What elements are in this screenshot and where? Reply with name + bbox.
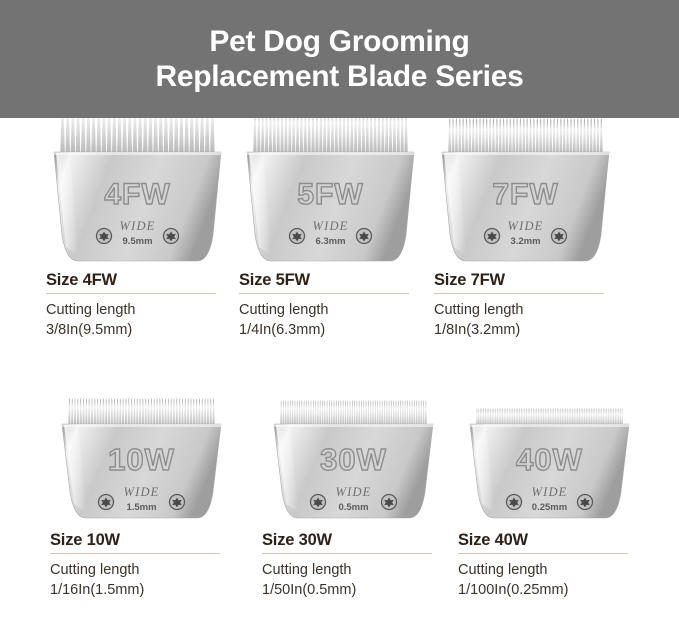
svg-text:WIDE: WIDE xyxy=(119,219,155,233)
svg-text:1.5mm: 1.5mm xyxy=(126,502,156,513)
blade-teeth xyxy=(448,118,603,156)
cutting-length-label: Cutting length xyxy=(239,300,424,320)
cutting-length-value: 1/8In(3.2mm) xyxy=(434,320,619,340)
cutting-length-value: 1/4In(6.3mm) xyxy=(239,320,424,340)
product-grid: 4FW WIDE 9.5mm Size 4FW Cutting length 3… xyxy=(0,118,679,637)
svg-text:WIDE: WIDE xyxy=(312,219,348,233)
title-underline xyxy=(50,553,220,554)
title-underline xyxy=(458,553,628,554)
product-size-title: Size 30W xyxy=(262,530,447,550)
title-underline xyxy=(434,293,604,294)
product-caption: Size 7FW Cutting length 1/8In(3.2mm) xyxy=(434,270,619,340)
product-card-5fw[interactable]: 5FW WIDE 6.3mm Size 5FW Cutting length 1… xyxy=(233,118,428,377)
svg-text:0.5mm: 0.5mm xyxy=(338,502,368,513)
cutting-length-value: 1/16In(1.5mm) xyxy=(50,580,235,600)
page-header: Pet Dog Grooming Replacement Blade Serie… xyxy=(0,0,679,118)
product-size-title: Size 5FW xyxy=(239,270,424,290)
svg-text:9.5mm: 9.5mm xyxy=(122,236,152,247)
svg-text:3.2mm: 3.2mm xyxy=(510,236,540,247)
cutting-length-label: Cutting length xyxy=(262,560,447,580)
blade-teeth xyxy=(68,398,215,428)
product-size-title: Size 4FW xyxy=(46,270,231,290)
blade-image-10w: 10W WIDE 1.5mm xyxy=(44,378,239,526)
product-card-4fw[interactable]: 4FW WIDE 9.5mm Size 4FW Cutting length 3… xyxy=(40,118,235,377)
svg-text:30W: 30W xyxy=(320,442,387,477)
svg-text:10W: 10W xyxy=(108,442,175,477)
product-row-1: 4FW WIDE 9.5mm Size 4FW Cutting length 3… xyxy=(0,118,679,377)
product-size-title: Size 7FW xyxy=(434,270,619,290)
cutting-length-value: 1/100In(0.25mm) xyxy=(458,580,643,600)
cutting-length-value: 1/50In(0.5mm) xyxy=(262,580,447,600)
blade-image-30w: 30W WIDE 0.5mm xyxy=(256,378,451,526)
product-caption: Size 30W Cutting length 1/50In(0.5mm) xyxy=(262,530,447,600)
page-title-line-2: Replacement Blade Series xyxy=(156,59,524,94)
product-caption: Size 10W Cutting length 1/16In(1.5mm) xyxy=(50,530,235,600)
svg-text:WIDE: WIDE xyxy=(335,485,371,499)
title-underline xyxy=(46,293,216,294)
product-card-30w[interactable]: 30W WIDE 0.5mm Size 30W Cutting length 1… xyxy=(256,378,451,637)
svg-text:40W: 40W xyxy=(516,442,583,477)
cutting-length-label: Cutting length xyxy=(434,300,619,320)
product-caption: Size 5FW Cutting length 1/4In(6.3mm) xyxy=(239,270,424,340)
blade-image-40w: 40W WIDE 0.25mm xyxy=(452,378,647,526)
svg-text:WIDE: WIDE xyxy=(531,485,567,499)
blade-image-5fw: 5FW WIDE 6.3mm xyxy=(233,118,428,266)
product-size-title: Size 40W xyxy=(458,530,643,550)
title-underline xyxy=(262,553,432,554)
product-card-10w[interactable]: 10W WIDE 1.5mm Size 10W Cutting length 1… xyxy=(44,378,239,637)
blade-image-7fw: 7FW WIDE 3.2mm xyxy=(428,118,623,266)
blade-image-4fw: 4FW WIDE 9.5mm xyxy=(40,118,235,266)
svg-text:0.25mm: 0.25mm xyxy=(532,502,567,513)
cutting-length-value: 3/8In(9.5mm) xyxy=(46,320,231,340)
svg-text:WIDE: WIDE xyxy=(123,485,159,499)
cutting-length-label: Cutting length xyxy=(50,560,235,580)
svg-text:7FW: 7FW xyxy=(492,178,558,211)
product-caption: Size 4FW Cutting length 3/8In(9.5mm) xyxy=(46,270,231,340)
svg-text:6.3mm: 6.3mm xyxy=(315,236,345,247)
product-size-title: Size 10W xyxy=(50,530,235,550)
blade-teeth xyxy=(253,118,408,156)
svg-text:WIDE: WIDE xyxy=(507,219,543,233)
blade-teeth xyxy=(60,118,215,156)
cutting-length-label: Cutting length xyxy=(46,300,231,320)
product-caption: Size 40W Cutting length 1/100In(0.25mm) xyxy=(458,530,643,600)
cutting-length-label: Cutting length xyxy=(458,560,643,580)
product-card-7fw[interactable]: 7FW WIDE 3.2mm Size 7FW Cutting length 1… xyxy=(428,118,623,377)
page-title-line-1: Pet Dog Grooming xyxy=(209,24,469,59)
product-card-40w[interactable]: 40W WIDE 0.25mm Size 40W Cutting length … xyxy=(452,378,647,637)
svg-text:5FW: 5FW xyxy=(297,178,363,211)
product-row-2: 10W WIDE 1.5mm Size 10W Cutting length 1… xyxy=(0,378,679,637)
svg-text:4FW: 4FW xyxy=(104,178,170,211)
title-underline xyxy=(239,293,409,294)
